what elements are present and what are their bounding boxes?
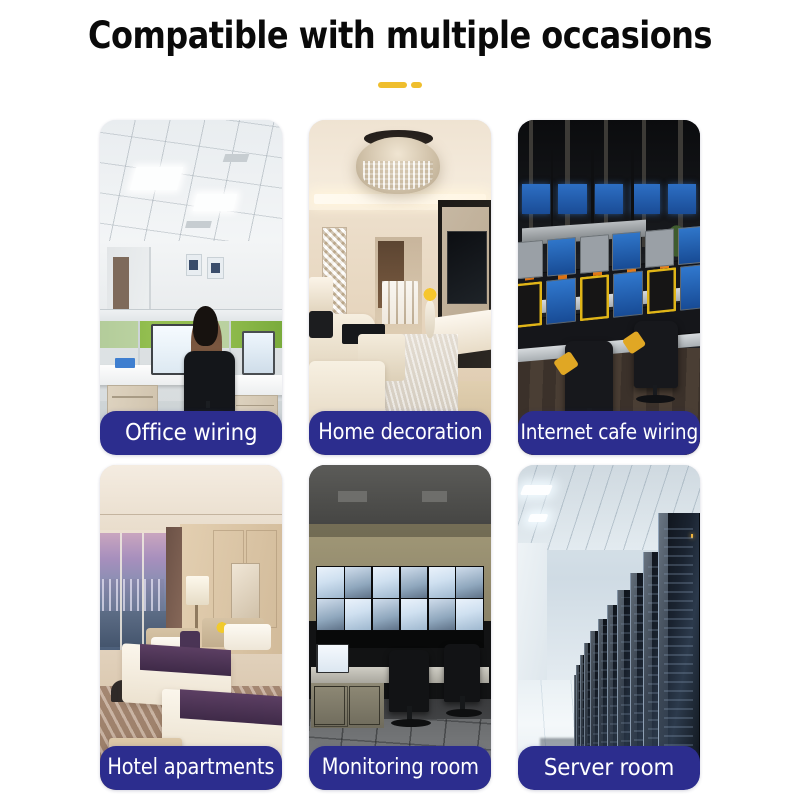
occasion-card-grid: Office wiring	[100, 120, 700, 790]
photo-monitoring-room	[309, 465, 491, 790]
promo-banner: Compatible with multiple occasions	[0, 0, 800, 800]
photo-office-wiring	[100, 120, 282, 455]
card-label-text: Hotel apartments	[108, 755, 275, 781]
card-label-text: Office wiring	[125, 420, 257, 446]
occasion-card-server-room[interactable]: Server room	[518, 465, 700, 790]
photo-internet-cafe-wiring	[518, 120, 700, 455]
card-label-text: Monitoring room	[321, 755, 478, 781]
divider-dash-long	[378, 82, 407, 88]
page-title: Compatible with multiple occasions	[54, 14, 746, 58]
photo-server-room	[518, 465, 700, 790]
photo-hotel-apartments	[100, 465, 282, 790]
occasion-card-hotel-apartments[interactable]: Hotel apartments	[100, 465, 282, 790]
photo-home-decoration	[309, 120, 491, 455]
divider-dash-short	[411, 82, 422, 88]
card-label-server-room: Server room	[518, 746, 700, 790]
card-label-hotel-apartments: Hotel apartments	[100, 746, 282, 790]
occasion-card-monitoring-room[interactable]: Monitoring room	[309, 465, 491, 790]
occasion-card-internet-cafe-wiring[interactable]: Internet cafe wiring	[518, 120, 700, 455]
card-label-home-decoration: Home decoration	[309, 411, 491, 455]
card-label-internet-cafe-wiring: Internet cafe wiring	[518, 411, 700, 455]
card-label-text: Server room	[544, 755, 674, 781]
card-label-text: Home decoration	[318, 420, 482, 446]
title-divider	[0, 80, 800, 90]
card-label-office-wiring: Office wiring	[100, 411, 282, 455]
occasion-card-office-wiring[interactable]: Office wiring	[100, 120, 282, 455]
occasion-card-home-decoration[interactable]: Home decoration	[309, 120, 491, 455]
card-label-text: Internet cafe wiring	[520, 420, 698, 446]
card-label-monitoring-room: Monitoring room	[309, 746, 491, 790]
